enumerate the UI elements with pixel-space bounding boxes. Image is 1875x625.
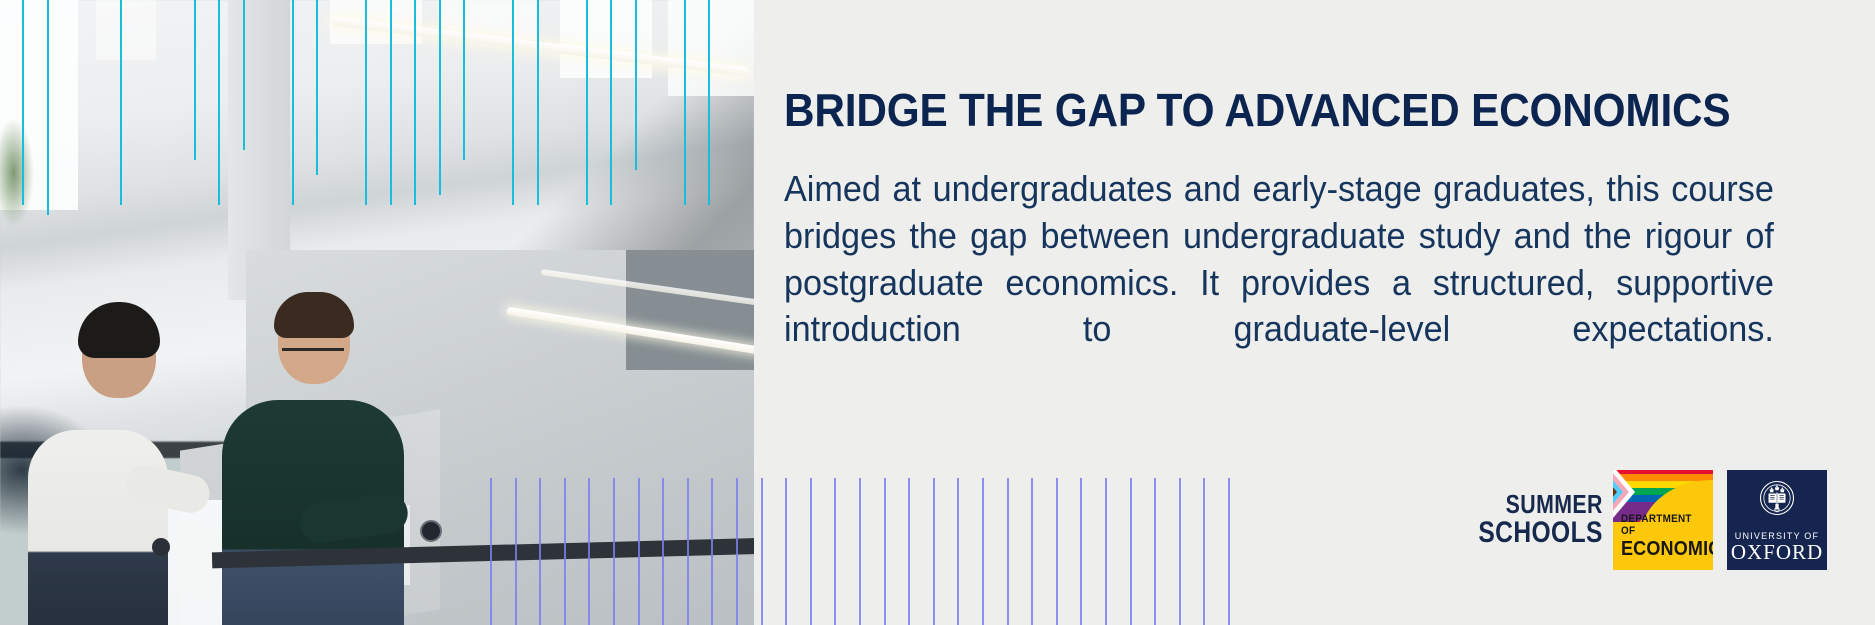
summer-schools-line2: SCHOOLS: [1478, 518, 1603, 549]
person-right-watch: [420, 520, 442, 542]
economics-line2: ECONOMICS: [1621, 538, 1698, 561]
person-left-watch: [152, 538, 170, 556]
body-paragraph: Aimed at undergraduates and early-stage …: [784, 166, 1774, 400]
window-light: [560, 0, 652, 78]
plant-foliage: [0, 118, 34, 228]
university-of-oxford-logo: UNIVERSITY OF OXFORD: [1727, 470, 1827, 570]
hero-photo: [0, 0, 754, 625]
content-panel: BRIDGE THE GAP TO ADVANCED ECONOMICS Aim…: [754, 0, 1875, 625]
department-of-economics-logo: DEPARTMENT OF ECONOMICS: [1613, 470, 1713, 570]
summer-schools-wordmark: SUMMER SCHOOLS: [1478, 491, 1603, 548]
window-light: [96, 0, 156, 60]
oxford-line2: OXFORD: [1731, 541, 1823, 563]
person-left-body: [28, 430, 168, 625]
page-title: BRIDGE THE GAP TO ADVANCED ECONOMICS: [784, 86, 1769, 134]
window-light: [668, 0, 754, 96]
economics-wordmark: DEPARTMENT OF ECONOMICS: [1621, 513, 1698, 561]
person-right-glasses: [282, 348, 344, 359]
economics-line1: DEPARTMENT OF: [1621, 513, 1698, 537]
promo-banner: BRIDGE THE GAP TO ADVANCED ECONOMICS Aim…: [0, 0, 1875, 625]
dark-opening: [626, 250, 754, 370]
oxford-crest-icon: [1754, 479, 1800, 525]
logo-lockup: SUMMER SCHOOLS: [1451, 470, 1827, 570]
summer-schools-line1: SUMMER: [1478, 491, 1603, 518]
